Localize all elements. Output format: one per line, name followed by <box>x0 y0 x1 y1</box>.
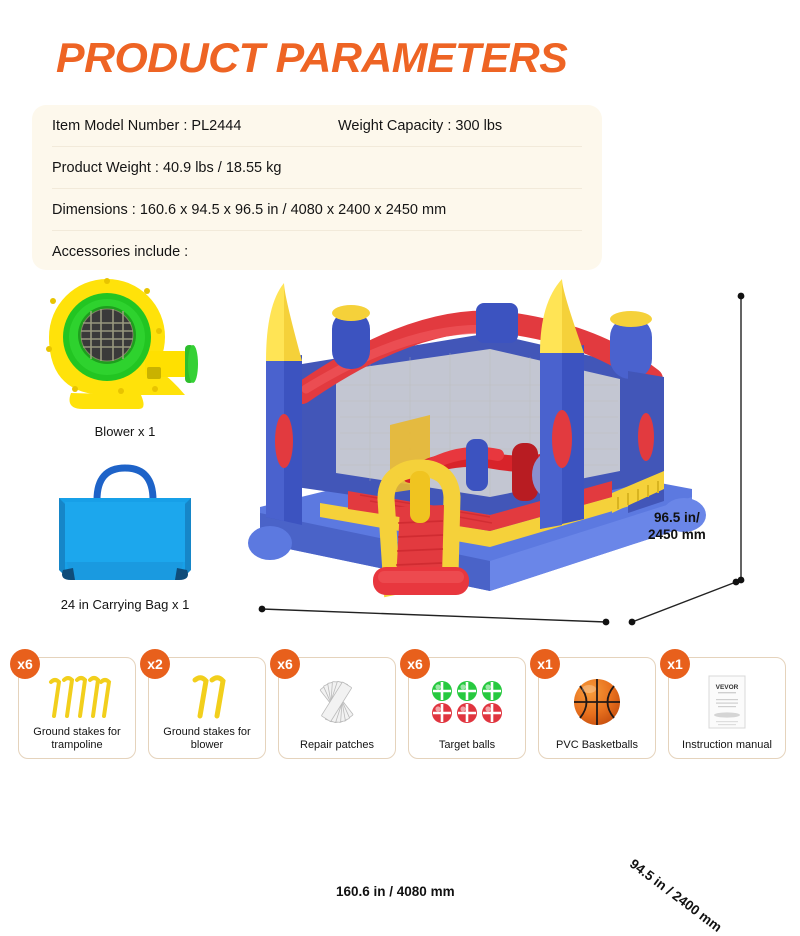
accessory-qty-badge: x1 <box>660 649 690 679</box>
dimension-depth-label: 94.5 in / 2400 mm <box>626 856 725 936</box>
dimension-height-line2: 2450 mm <box>648 527 706 542</box>
spec-row-dimensions: Dimensions : 160.6 x 94.5 x 96.5 in / 40… <box>52 189 582 231</box>
accessory-card-ground-stakes-trampoline[interactable]: x6 Ground stakes for trampoline <box>18 657 136 759</box>
accessory-qty-badge: x6 <box>400 649 430 679</box>
manual-brand-text: VEVOR <box>716 684 739 691</box>
accessory-card-target-balls[interactable]: x6 <box>408 657 526 759</box>
accessory-qty-badge: x2 <box>140 649 170 679</box>
accessory-card-ground-stakes-blower[interactable]: x2 Ground stakes for blower <box>148 657 266 759</box>
spec-row-accessories: Accessories include : <box>52 231 582 272</box>
measurement-lines <box>0 270 800 650</box>
accessory-card-repair-patches[interactable]: x6 Repair patches <box>278 657 396 759</box>
accessory-caption: Instruction manual <box>679 739 775 752</box>
accessory-card-basketball[interactable]: x1 <box>538 657 656 759</box>
dimension-height-label: 96.5 in/ 2450 mm <box>648 510 706 544</box>
spec-row-weight: Product Weight : 40.9 lbs / 18.55 kg <box>52 147 582 189</box>
dimension-width-label: 160.6 in / 4080 mm <box>336 884 455 901</box>
spec-product-weight: Product Weight : 40.9 lbs / 18.55 kg <box>52 160 281 176</box>
spec-panel: Item Model Number : PL2444 Weight Capaci… <box>32 105 602 270</box>
spec-dimensions: Dimensions : 160.6 x 94.5 x 96.5 in / 40… <box>52 202 446 218</box>
accessory-caption: Ground stakes for trampoline <box>19 726 135 752</box>
accessory-qty-badge: x6 <box>10 649 40 679</box>
accessories-strip: x6 Ground stakes for trampoline x2 <box>18 657 786 767</box>
accessory-caption: Ground stakes for blower <box>149 726 265 752</box>
product-illustration-area: Blower x 1 24 in Carrying Bag x 1 <box>0 270 800 650</box>
dimension-height-line1: 96.5 in/ <box>654 510 700 525</box>
accessory-caption: Repair patches <box>297 739 377 752</box>
accessory-caption: PVC Basketballs <box>553 739 641 752</box>
spec-row-model: Item Model Number : PL2444 Weight Capaci… <box>52 105 582 147</box>
spec-model-number: Item Model Number : PL2444 <box>52 118 241 134</box>
accessory-qty-badge: x6 <box>270 649 300 679</box>
page-title: PRODUCT PARAMETERS <box>56 34 567 82</box>
accessory-card-manual[interactable]: x1 VEVOR <box>668 657 786 759</box>
accessory-qty-badge: x1 <box>530 649 560 679</box>
accessory-caption: Target balls <box>436 739 498 752</box>
spec-weight-capacity: Weight Capacity : 300 lbs <box>338 118 502 134</box>
spec-accessories-label: Accessories include : <box>52 244 188 260</box>
product-parameters-page: PRODUCT PARAMETERS Item Model Number : P… <box>0 0 800 800</box>
